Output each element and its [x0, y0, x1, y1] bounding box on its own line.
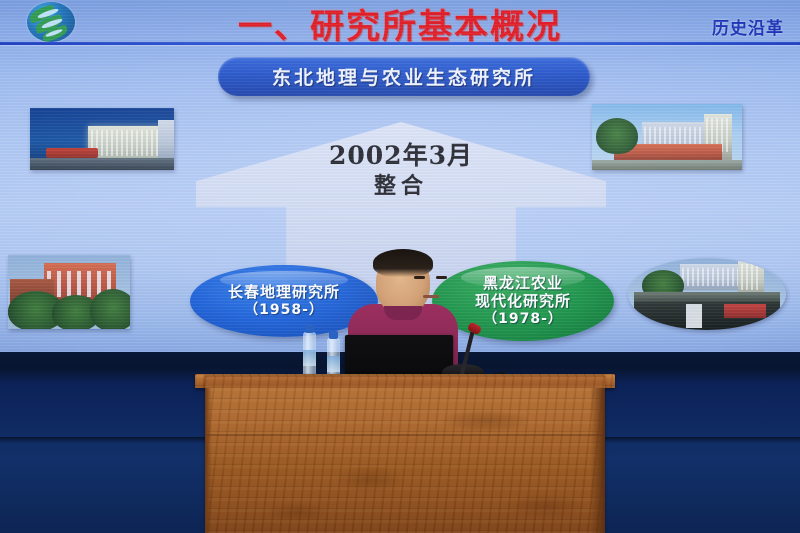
- predecessor-heilongjiang-name-line1: 黑龙江农业: [483, 274, 563, 292]
- slide-subtitle: 历史沿革: [712, 14, 784, 39]
- water-bottle-left: [303, 332, 316, 376]
- institute-name-pill: 东北地理与农业生态研究所: [218, 57, 590, 96]
- laptop: [345, 335, 453, 377]
- bottle-label: [303, 350, 316, 366]
- photo-bottom-right: [628, 258, 786, 330]
- presenter-mouth: [423, 295, 439, 298]
- institute-name-label: 东北地理与农业生态研究所: [272, 63, 536, 90]
- presentation-photo: 一、研究所基本概况 历史沿革 东北地理与农业生态研究所 2002年3月 整合: [0, 0, 800, 533]
- bottle-cap-icon: [329, 331, 338, 339]
- presenter-collar: [384, 306, 422, 320]
- merge-date: 2002年3月: [196, 140, 606, 172]
- predecessor-heilongjiang-oval: 黑龙江农业 现代化研究所 （1978-）: [432, 261, 614, 341]
- header-divider: [0, 42, 800, 45]
- podium-left-edge: [205, 388, 212, 533]
- predecessor-changchun-years: （1958-）: [244, 302, 324, 319]
- photo-top-right: [592, 104, 742, 170]
- presenter-eye-right: [436, 276, 447, 279]
- bottle-cap-icon: [305, 325, 314, 333]
- bottle-label: [327, 356, 340, 372]
- predecessor-heilongjiang-years: （1978-）: [483, 311, 563, 328]
- photo-bottom-left: [8, 255, 130, 329]
- merge-arrow-text: 2002年3月 整合: [196, 140, 606, 200]
- merge-word: 整合: [196, 172, 606, 200]
- wooden-podium: [205, 376, 605, 533]
- podium-right-edge: [590, 388, 605, 533]
- institute-globe-logo: [27, 2, 75, 42]
- predecessor-changchun-name: 长春地理研究所: [228, 283, 340, 301]
- predecessor-heilongjiang-name-line2: 现代化研究所: [475, 292, 571, 310]
- slide-title: 一、研究所基本概况: [175, 0, 625, 48]
- presenter-hair: [373, 249, 433, 277]
- slide-header: 一、研究所基本概况 历史沿革: [0, 0, 800, 46]
- photo-top-left: [30, 108, 174, 170]
